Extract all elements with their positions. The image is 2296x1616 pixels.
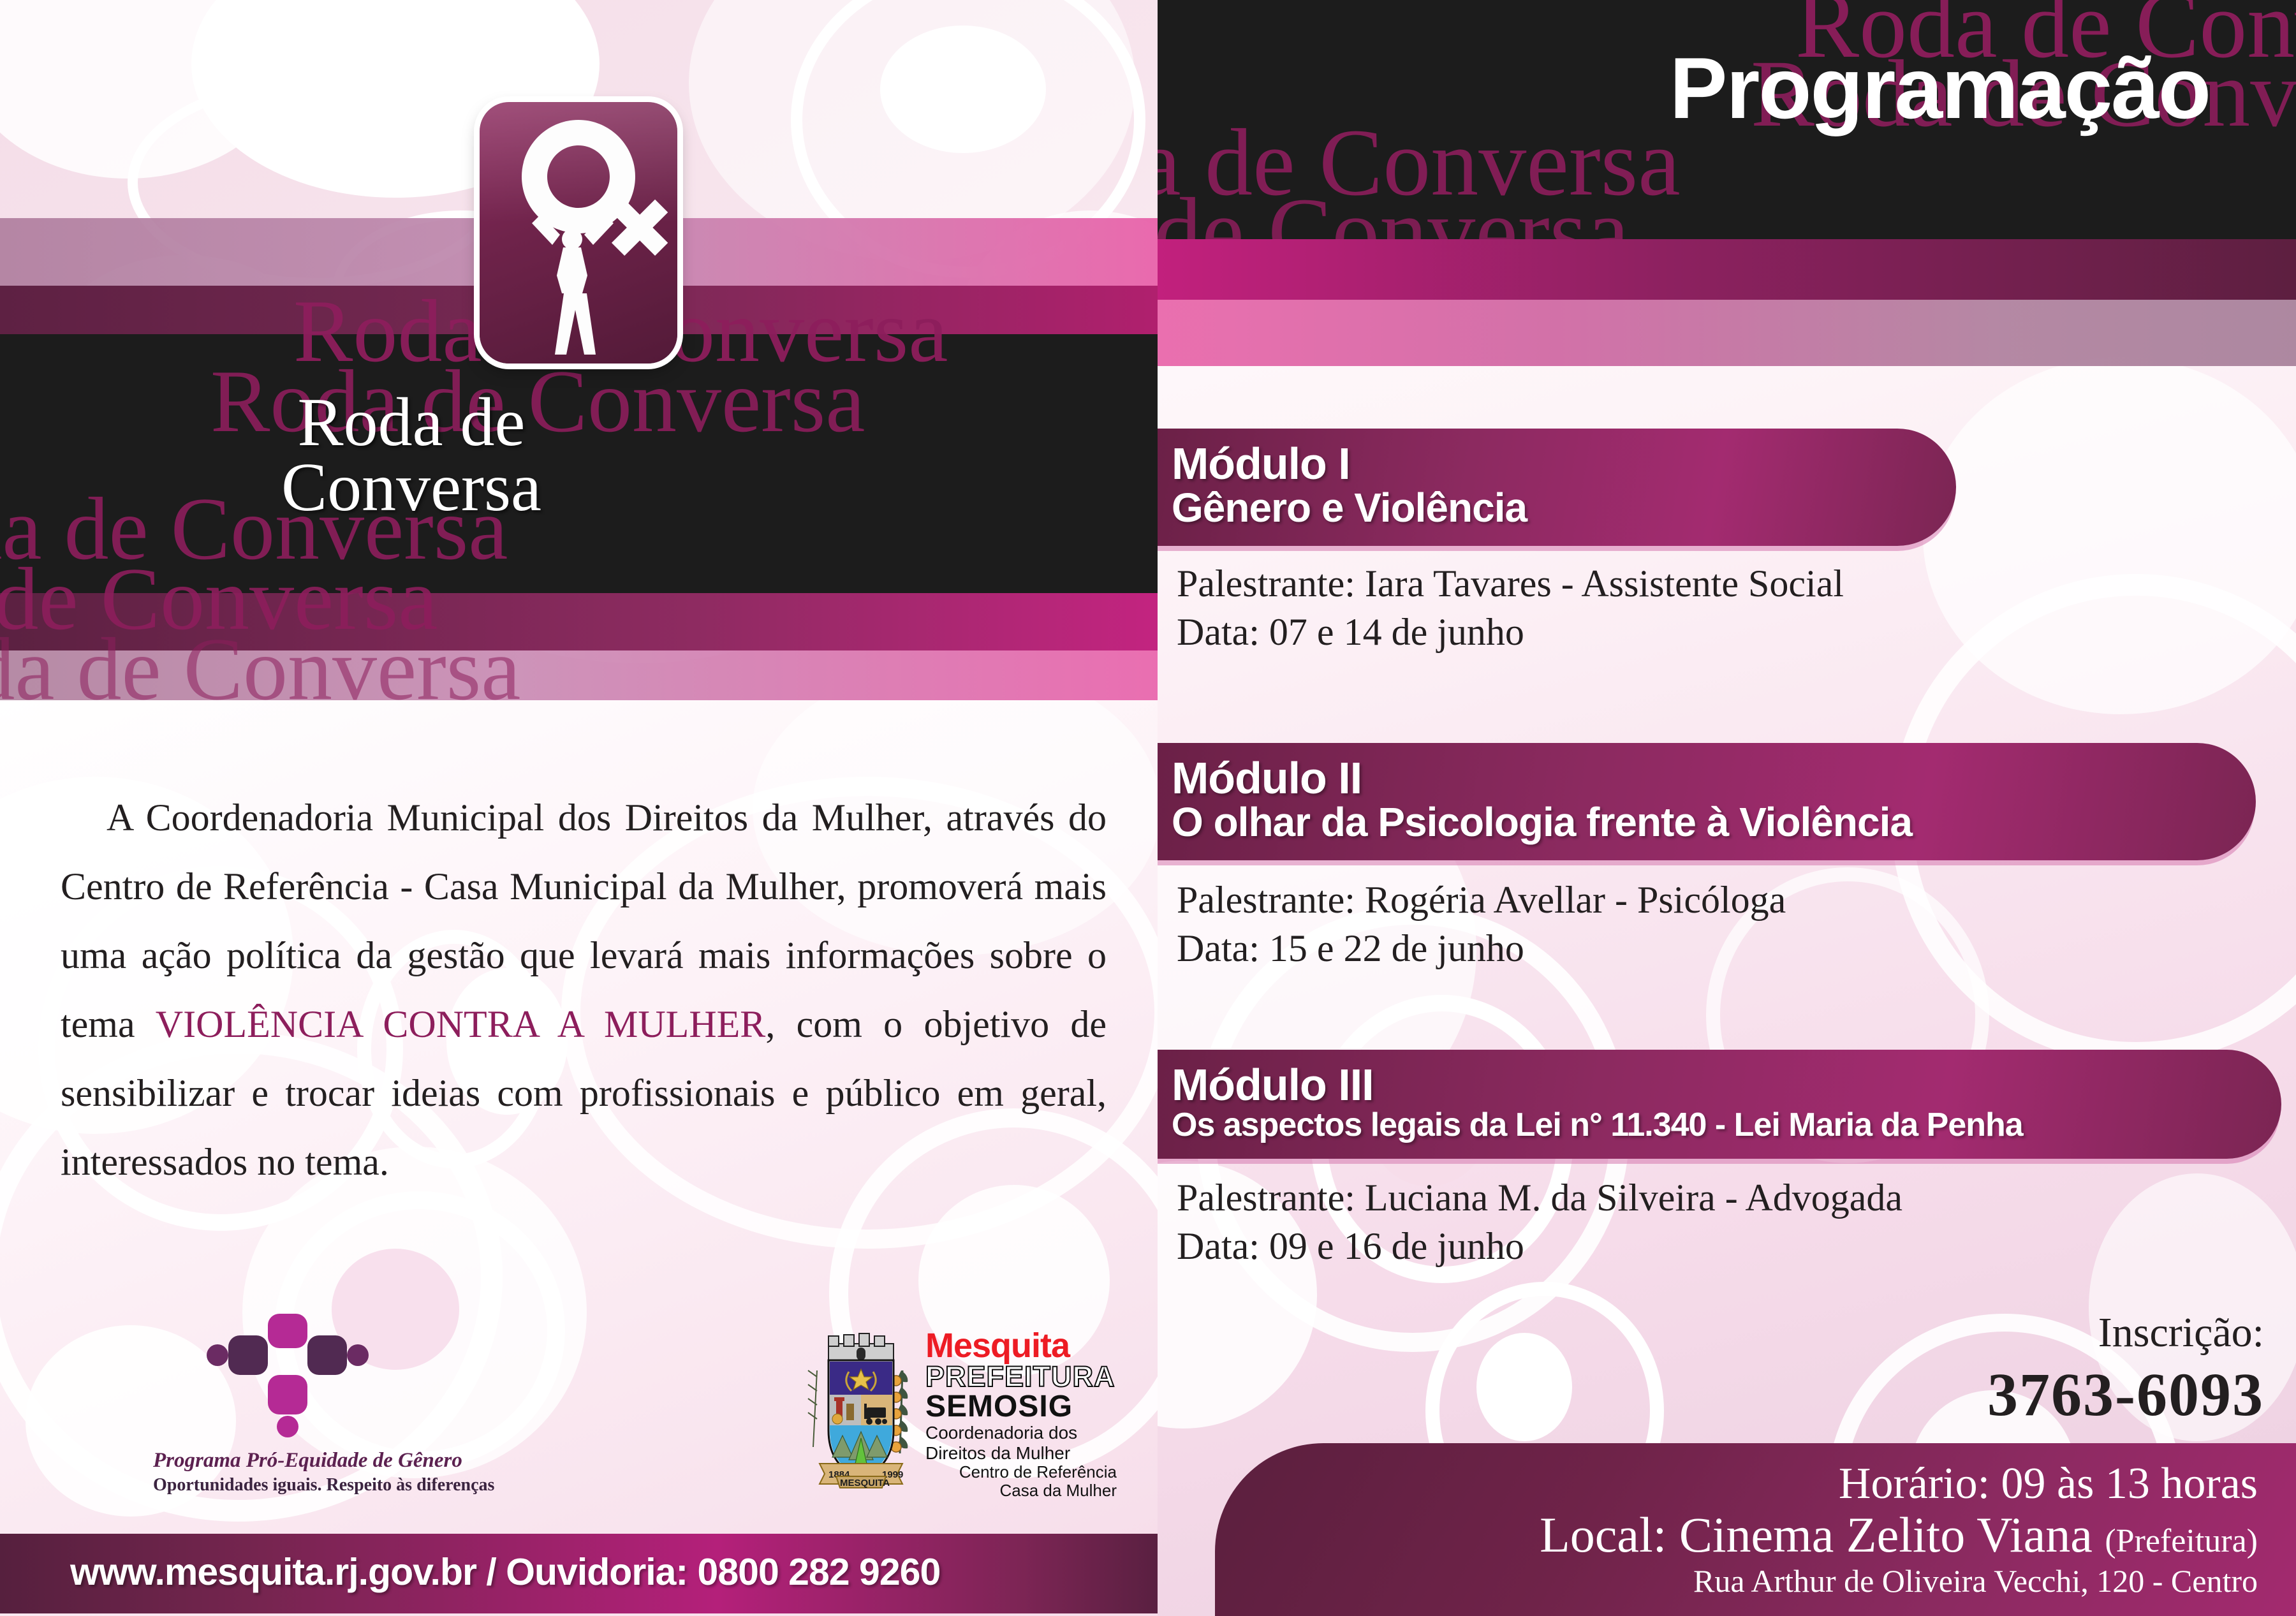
page-title: Roda de Conversa xyxy=(0,390,823,520)
stripe-plum-lower xyxy=(0,593,1158,650)
module-pill-1: Módulo I Gênero e Violência xyxy=(1158,429,1956,546)
mesquita-dept-1: Coordenadoria dos xyxy=(925,1423,1117,1443)
module-2-subject: O olhar da Psicologia frente à Violência xyxy=(1172,801,2256,844)
mesquita-dept-3: Centro de Referência xyxy=(925,1463,1117,1481)
footer-venue: Local: Cinema Zelito Viana (Prefeitura) xyxy=(1215,1508,2296,1561)
left-panel: Roda de Conversa Roda de Conversa Roda d… xyxy=(0,0,1158,1616)
mesquita-prefeitura-logo: 1884 1999 MESQUITA Mesquita PREFEITURA S… xyxy=(800,1330,1119,1495)
module-2-meta: Palestrante: Rogéria Avellar - Psicóloga… xyxy=(1177,876,1786,973)
module-3-meta: Palestrante: Luciana M. da Silveira - Ad… xyxy=(1177,1173,1902,1270)
module-1-date: Data: 07 e 14 de junho xyxy=(1177,608,1844,656)
registration-phone[interactable]: 3763-6093 xyxy=(1987,1361,2264,1429)
module-2-date: Data: 15 e 22 de junho xyxy=(1177,924,1786,973)
programacao-heading: Programação xyxy=(1158,38,2210,138)
module-1-meta: Palestrante: Iara Tavares - Assistente S… xyxy=(1177,559,1844,656)
registration-block: Inscrição: 3763-6093 xyxy=(1987,1311,2264,1429)
module-3-speaker: Palestrante: Luciana M. da Silveira - Ad… xyxy=(1177,1173,1902,1222)
stripe-mauve-lower xyxy=(0,650,1158,700)
mesquita-coat-of-arms-icon: 1884 1999 MESQUITA xyxy=(800,1332,922,1492)
module-1-speaker: Palestrante: Iara Tavares - Assistente S… xyxy=(1177,559,1844,608)
module-2-speaker: Palestrante: Rogéria Avellar - Psicóloga xyxy=(1177,876,1786,924)
pro-equidade-tagline: Oportunidades iguais. Respeito às difere… xyxy=(153,1475,421,1495)
poster-root: Roda de Conversa Roda de Conversa Roda d… xyxy=(0,0,2296,1616)
intro-highlight: VIOLÊNCIA CONTRA A MULHER xyxy=(156,1003,766,1045)
module-2-number: Módulo II xyxy=(1172,756,2256,801)
roda-de-conversa-logo-badge xyxy=(480,102,677,364)
module-pill-2: Módulo II O olhar da Psicologia frente à… xyxy=(1158,743,2256,860)
mesquita-city: Mesquita xyxy=(925,1330,1117,1362)
right-plum-band xyxy=(1158,239,2296,300)
crest-banner: MESQUITA xyxy=(840,1478,890,1488)
mesquita-dept-4: Casa da Mulher xyxy=(925,1481,1117,1500)
pro-equidade-name: Programa Pró-Equidade de Gênero xyxy=(153,1449,421,1473)
mesquita-semosig: SEMOSIG xyxy=(925,1392,1117,1423)
footer-address: Rua Arthur de Oliveira Vecchi, 120 - Cen… xyxy=(1215,1561,2296,1598)
right-mauve-band xyxy=(1158,300,2296,366)
pro-equidade-cross-icon xyxy=(223,1314,351,1441)
module-3-date: Data: 09 e 16 de junho xyxy=(1177,1222,1902,1270)
badge-gloss xyxy=(480,102,677,223)
footer-schedule: Horário: 09 às 13 horas xyxy=(1215,1443,2296,1508)
pro-equidade-logo: Programa Pró-Equidade de Gênero Oportuni… xyxy=(153,1314,421,1495)
mesquita-dept-2: Direitos da Mulher xyxy=(925,1443,1117,1463)
footer-venue-label: Local: Cinema Zelito Viana xyxy=(1540,1507,2093,1562)
module-3-number: Módulo III xyxy=(1172,1062,2281,1108)
right-panel: Roda de Conversa Roda de Conversa Roda d… xyxy=(1158,0,2296,1616)
registration-label: Inscrição: xyxy=(1987,1311,2264,1355)
module-pill-3: Módulo III Os aspectos legais da Lei n° … xyxy=(1158,1050,2281,1159)
website-url-text[interactable]: www.mesquita.rj.gov.br / Ouvidoria: 0800… xyxy=(0,1534,1158,1594)
mesquita-wordmark: Mesquita PREFEITURA SEMOSIG Coordenadori… xyxy=(925,1330,1117,1500)
footer-venue-note: (Prefeitura) xyxy=(2105,1523,2258,1559)
title-line-2: Conversa xyxy=(0,455,823,520)
module-3-subject: Os aspectos legais da Lei n° 11.340 - Le… xyxy=(1172,1108,2281,1142)
website-bar[interactable]: www.mesquita.rj.gov.br / Ouvidoria: 0800… xyxy=(0,1534,1158,1613)
event-footer-block: Horário: 09 às 13 horas Local: Cinema Ze… xyxy=(1215,1443,2296,1616)
mesquita-prefeitura: PREFEITURA xyxy=(925,1362,1117,1392)
module-1-number: Módulo I xyxy=(1172,441,1956,487)
intro-paragraph: A Coordenadoria Municipal dos Direitos d… xyxy=(61,783,1107,1196)
module-1-subject: Gênero e Violência xyxy=(1172,487,1956,529)
title-line-1: Roda de xyxy=(0,390,823,455)
